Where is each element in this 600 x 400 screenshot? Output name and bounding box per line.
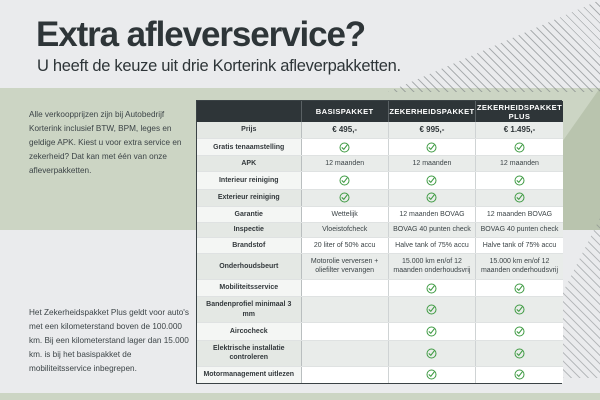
check-icon [514, 142, 525, 153]
text-cell: 15.000 km en/of 12 maanden onderhoudsvri… [476, 253, 563, 279]
intro-paragraph: Alle verkoopprijzen zijn bij Autobedrijf… [29, 108, 189, 179]
table-row: InspectieVloeistofcheckBOVAG 40 punten c… [197, 222, 563, 238]
check-cell [301, 172, 388, 189]
check-cell [388, 279, 475, 296]
check-icon [426, 192, 437, 203]
table-header-row: BASISPAKKETZEKERHEIDSPAKKETZEKERHEIDSPAK… [197, 101, 563, 122]
check-icon [426, 175, 437, 186]
text-cell: BOVAG 40 punten check [388, 222, 475, 238]
row-label: Elektrische installatie controleren [197, 340, 301, 366]
table-body: Prijs€ 495,-€ 995,-€ 1.495,-Gratis tenaa… [197, 122, 563, 383]
text-cell: Motorolie verversen + oliefilter vervang… [301, 253, 388, 279]
check-icon [426, 369, 437, 380]
table-row: Gratis tenaamstelling [197, 139, 563, 156]
check-cell [388, 189, 475, 206]
table-row: OnderhoudsbeurtMotorolie verversen + oli… [197, 253, 563, 279]
check-cell [301, 139, 388, 156]
check-cell [388, 139, 475, 156]
empty-cell [301, 340, 388, 366]
check-icon [339, 142, 350, 153]
table-header-corner [197, 101, 301, 122]
row-label: Inspectie [197, 222, 301, 238]
check-cell [476, 323, 563, 340]
row-label: Prijs [197, 122, 301, 139]
text-cell: 15.000 km en/of 12 maanden onderhoudsvri… [388, 253, 475, 279]
check-icon [426, 142, 437, 153]
text-cell: Halve tank of 75% accu [388, 238, 475, 254]
check-icon [514, 348, 525, 359]
empty-cell [301, 323, 388, 340]
table-row: Elektrische installatie controleren [197, 340, 563, 366]
check-icon [514, 175, 525, 186]
check-cell [476, 366, 563, 383]
check-icon [426, 348, 437, 359]
price-cell: € 495,- [301, 122, 388, 139]
row-label: Gratis tenaamstelling [197, 139, 301, 156]
row-label: Onderhoudsbeurt [197, 253, 301, 279]
table-header-col-2: ZEKERHEIDSPAKKET [388, 101, 475, 122]
text-cell: BOVAG 40 punten check [476, 222, 563, 238]
check-icon [426, 304, 437, 315]
row-label: Motormanagement uitlezen [197, 366, 301, 383]
check-cell [476, 139, 563, 156]
row-label: Aircocheck [197, 323, 301, 340]
check-cell [476, 297, 563, 323]
table-row: APK12 maanden12 maanden12 maanden [197, 156, 563, 172]
check-cell [388, 172, 475, 189]
footnote-paragraph-text: Het Zekerheidspakket Plus geldt voor aut… [29, 306, 189, 377]
page-title: Extra afleverservice? [36, 17, 365, 52]
text-cell: 12 maanden [476, 156, 563, 172]
table-row: Aircocheck [197, 323, 563, 340]
check-cell [301, 189, 388, 206]
page-subtitle: U heeft de keuze uit drie Korterink afle… [37, 58, 401, 75]
table-row: Brandstof20 liter of 50% accuHalve tank … [197, 238, 563, 254]
table-row: Interieur reiniging [197, 172, 563, 189]
poster-canvas: Extra afleverservice? U heeft de keuze u… [0, 0, 600, 400]
row-label: Mobiliteitsservice [197, 279, 301, 296]
text-cell: 12 maanden [388, 156, 475, 172]
check-icon [514, 192, 525, 203]
text-cell: Wettelijk [301, 206, 388, 222]
background-band-footer [0, 393, 600, 400]
price-cell: € 1.495,- [476, 122, 563, 139]
table-row: GarantieWettelijk12 maanden BOVAG12 maan… [197, 206, 563, 222]
row-label: Garantie [197, 206, 301, 222]
check-cell [388, 297, 475, 323]
table-row: Prijs€ 495,-€ 995,-€ 1.495,- [197, 122, 563, 139]
package-comparison-table: BASISPAKKETZEKERHEIDSPAKKETZEKERHEIDSPAK… [196, 100, 562, 384]
table-header-col-3: ZEKERHEIDSPAKKET PLUS [476, 101, 563, 122]
comparison-table: BASISPAKKETZEKERHEIDSPAKKETZEKERHEIDSPAK… [197, 101, 563, 383]
check-cell [388, 366, 475, 383]
check-icon [339, 175, 350, 186]
check-icon [514, 304, 525, 315]
text-cell: Halve tank of 75% accu [476, 238, 563, 254]
check-cell [388, 323, 475, 340]
check-icon [339, 192, 350, 203]
row-label: Brandstof [197, 238, 301, 254]
footnote-paragraph: Het Zekerheidspakket Plus geldt voor aut… [29, 306, 189, 377]
table-row: Mobiliteitsservice [197, 279, 563, 296]
check-cell [476, 340, 563, 366]
check-icon [514, 326, 525, 337]
text-cell: 12 maanden BOVAG [476, 206, 563, 222]
table-header-col-1: BASISPAKKET [301, 101, 388, 122]
check-icon [514, 283, 525, 294]
row-label: Exterieur reiniging [197, 189, 301, 206]
row-label: Interieur reiniging [197, 172, 301, 189]
table-row: Exterieur reiniging [197, 189, 563, 206]
empty-cell [301, 297, 388, 323]
table-row: Bandenprofiel minimaal 3 mm [197, 297, 563, 323]
intro-paragraph-text: Alle verkoopprijzen zijn bij Autobedrijf… [29, 108, 189, 179]
empty-cell [301, 279, 388, 296]
check-icon [514, 369, 525, 380]
check-cell [388, 340, 475, 366]
table-head: BASISPAKKETZEKERHEIDSPAKKETZEKERHEIDSPAK… [197, 101, 563, 122]
check-cell [476, 189, 563, 206]
check-icon [426, 283, 437, 294]
table-row: Motormanagement uitlezen [197, 366, 563, 383]
text-cell: 12 maanden [301, 156, 388, 172]
text-cell: Vloeistofcheck [301, 222, 388, 238]
row-label: Bandenprofiel minimaal 3 mm [197, 297, 301, 323]
poster-header: Extra afleverservice? U heeft de keuze u… [0, 0, 600, 88]
text-cell: 12 maanden BOVAG [388, 206, 475, 222]
price-cell: € 995,- [388, 122, 475, 139]
row-label: APK [197, 156, 301, 172]
check-cell [476, 279, 563, 296]
check-cell [476, 172, 563, 189]
check-icon [426, 326, 437, 337]
text-cell: 20 liter of 50% accu [301, 238, 388, 254]
empty-cell [301, 366, 388, 383]
